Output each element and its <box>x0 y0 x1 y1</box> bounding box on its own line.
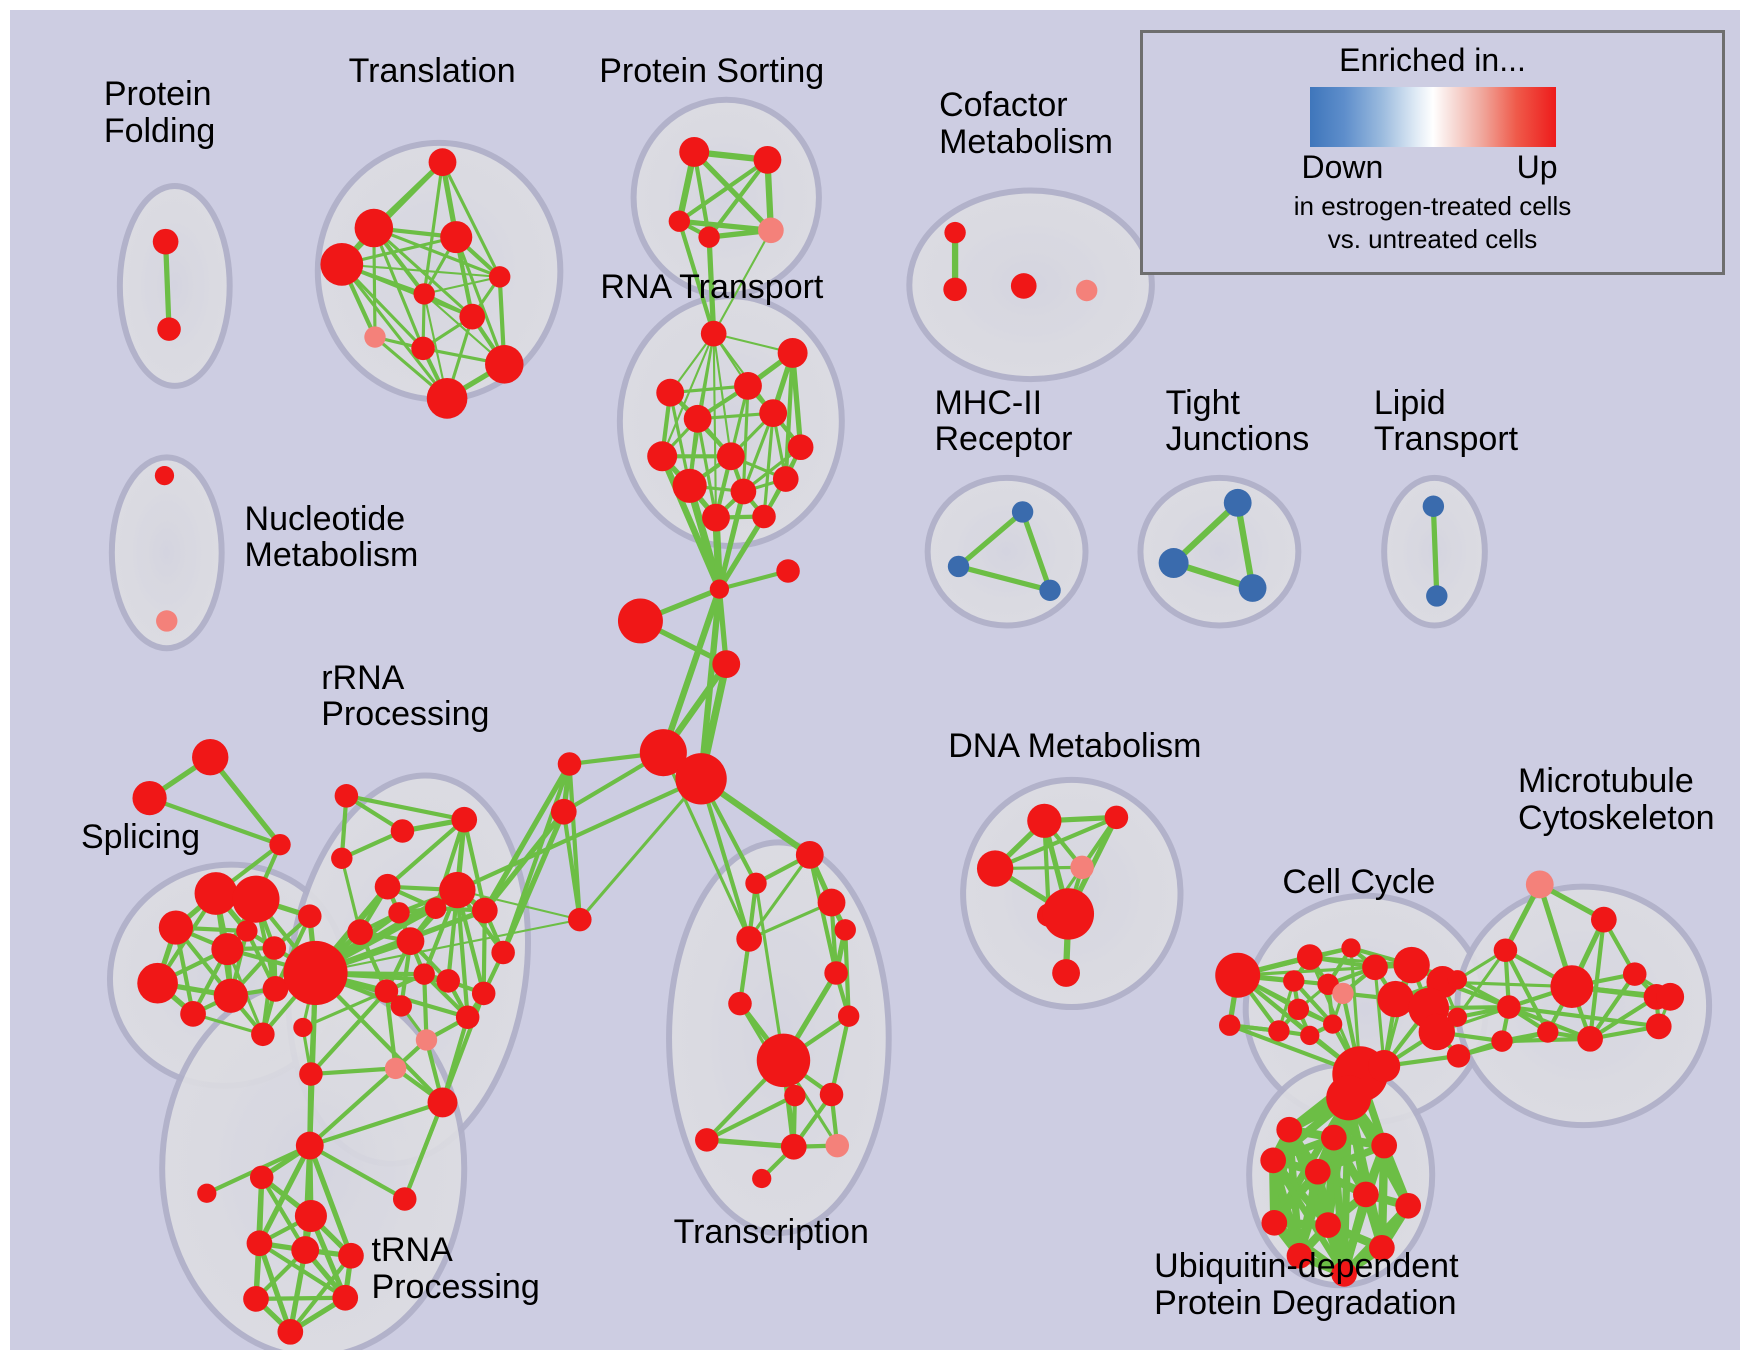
network-node-cc19[interactable] <box>1447 1044 1471 1068</box>
network-node-rr4[interactable] <box>335 784 359 808</box>
network-node-tr5[interactable] <box>489 266 510 287</box>
cluster-label-protein-sorting: Protein Sorting <box>599 53 824 90</box>
network-node-tj2[interactable] <box>1159 548 1189 578</box>
network-node-ub3[interactable] <box>1321 1125 1347 1151</box>
network-node-rr8[interactable] <box>451 807 477 833</box>
legend-caption-line2: vs. untreated cells <box>1143 224 1722 255</box>
network-node-tx15[interactable] <box>745 873 766 894</box>
network-node-ub5[interactable] <box>1260 1148 1286 1174</box>
network-node-rt2[interactable] <box>778 338 808 368</box>
cluster-label-lipid-transport: Lipid Transport <box>1374 385 1518 458</box>
network-node-mc5[interactable] <box>1623 962 1647 986</box>
network-node-tx3[interactable] <box>728 992 752 1016</box>
network-node-ub6[interactable] <box>1305 1159 1331 1185</box>
network-node-tp4[interactable] <box>247 1230 273 1256</box>
network-node-mc7[interactable] <box>1497 995 1521 1019</box>
network-node-cc12[interactable] <box>1288 999 1309 1020</box>
network-node-rt1[interactable] <box>701 321 727 347</box>
network-node-ps1[interactable] <box>679 137 709 167</box>
network-node-tx6[interactable] <box>818 889 846 917</box>
cluster-label-transcription: Transcription <box>674 1214 869 1251</box>
network-node-ub2[interactable] <box>1276 1117 1302 1143</box>
network-node-rr18[interactable] <box>347 919 373 945</box>
network-node-ps5[interactable] <box>758 217 784 243</box>
cluster-label-translation: Translation <box>349 53 516 90</box>
network-node-cc13[interactable] <box>1323 1014 1342 1033</box>
network-node-mc2[interactable] <box>1591 907 1617 933</box>
cluster-label-cofactor-metabolism: Cofactor Metabolism <box>939 87 1113 160</box>
network-node-tx5[interactable] <box>736 926 762 952</box>
network-node-tx9[interactable] <box>838 1005 859 1026</box>
network-node-tr11[interactable] <box>427 378 468 419</box>
network-node-rr21[interactable] <box>331 848 352 869</box>
network-node-cc15[interactable] <box>1268 1020 1289 1041</box>
network-node-rt4[interactable] <box>656 379 684 407</box>
network-node-dm4[interactable] <box>1105 806 1129 830</box>
network-node-rt8[interactable] <box>647 441 677 471</box>
network-node-rr5[interactable] <box>388 902 409 923</box>
network-node-cf2[interactable] <box>943 278 967 302</box>
network-node-sp13[interactable] <box>283 941 347 1005</box>
network-node-tp3[interactable] <box>197 1184 216 1203</box>
cluster-label-tight-junctions: Tight Junctions <box>1166 385 1310 458</box>
network-node-tp2[interactable] <box>295 1200 327 1232</box>
network-node-ps2[interactable] <box>754 146 782 174</box>
network-node-tx2[interactable] <box>824 961 848 985</box>
network-node-pf2[interactable] <box>157 317 181 341</box>
network-node-rr15[interactable] <box>385 1058 406 1079</box>
network-node-cc7[interactable] <box>1283 970 1304 991</box>
network-node-sp8[interactable] <box>137 963 178 1004</box>
network-node-rr3[interactable] <box>472 898 498 924</box>
cluster-label-splicing: Splicing <box>81 819 200 856</box>
network-node-rr22[interactable] <box>472 982 496 1006</box>
network-node-sp0b[interactable] <box>132 781 166 815</box>
network-node-rr23[interactable] <box>393 1187 417 1211</box>
network-node-sp3[interactable] <box>159 910 193 944</box>
network-node-tx10[interactable] <box>784 1085 805 1106</box>
network-node-rr16[interactable] <box>428 1087 458 1117</box>
network-node-cc2[interactable] <box>1297 944 1323 970</box>
network-node-tr3[interactable] <box>440 221 472 253</box>
network-node-ub1[interactable] <box>1326 1075 1371 1120</box>
network-node-pf1[interactable] <box>153 229 179 255</box>
network-node-cc1[interactable] <box>1215 953 1260 998</box>
network-node-tp6[interactable] <box>338 1243 364 1269</box>
network-node-tp1[interactable] <box>250 1166 274 1190</box>
network-node-tx11[interactable] <box>695 1128 719 1152</box>
cluster-label-protein-folding: Protein Folding <box>104 76 216 149</box>
cluster-label-trna-processing: tRNA Processing <box>372 1232 540 1305</box>
network-node-rr20[interactable] <box>296 1132 324 1160</box>
network-node-sp9[interactable] <box>214 979 248 1013</box>
network-node-rt6[interactable] <box>759 399 787 427</box>
network-node-tr4[interactable] <box>320 243 363 286</box>
network-node-ub10[interactable] <box>1315 1212 1341 1238</box>
network-node-cc17[interactable] <box>1448 970 1467 989</box>
network-node-cc5[interactable] <box>1362 954 1388 980</box>
network-node-mc4[interactable] <box>1550 965 1593 1008</box>
network-node-tx13[interactable] <box>781 1134 807 1160</box>
network-node-mc11[interactable] <box>1491 1030 1512 1051</box>
network-node-sp5[interactable] <box>298 904 322 928</box>
network-node-cf3[interactable] <box>1011 273 1037 299</box>
network-node-tx7[interactable] <box>835 919 856 940</box>
network-node-mc9[interactable] <box>1577 1026 1603 1052</box>
network-edge <box>256 1298 345 1299</box>
network-node-cf1[interactable] <box>944 222 965 243</box>
network-node-sp1[interactable] <box>195 872 238 915</box>
network-node-mc1[interactable] <box>1526 870 1554 898</box>
network-node-cc18[interactable] <box>1448 1008 1467 1027</box>
network-node-tp9[interactable] <box>332 1285 358 1311</box>
network-node-rt10[interactable] <box>773 466 799 492</box>
network-node-rt5[interactable] <box>684 405 712 433</box>
network-node-rr17[interactable] <box>391 995 412 1016</box>
network-node-lt1[interactable] <box>1423 496 1444 517</box>
cluster-label-mhc-ii-receptor: MHC-II Receptor <box>934 385 1072 458</box>
network-node-tx12[interactable] <box>752 1169 771 1188</box>
legend-down-label: Down <box>1302 149 1384 186</box>
legend-caption-line1: in estrogen-treated cells <box>1143 191 1722 222</box>
network-node-mc8[interactable] <box>1537 1021 1558 1042</box>
cluster-ellipse-mhc-ii-receptor <box>928 478 1086 626</box>
legend-panel: Enriched in... Down Up in estrogen-treat… <box>1140 30 1725 275</box>
network-node-br3[interactable] <box>618 598 663 643</box>
network-node-nm2[interactable] <box>156 610 177 631</box>
network-node-rr14[interactable] <box>416 1029 437 1050</box>
network-node-lt2[interactable] <box>1426 585 1447 606</box>
network-node-dm8[interactable] <box>1052 959 1080 987</box>
network-node-tx1[interactable] <box>796 841 824 869</box>
network-edge <box>1433 506 1436 596</box>
legend-up-label: Up <box>1517 149 1558 186</box>
network-node-tp5[interactable] <box>291 1236 319 1264</box>
network-node-dm7[interactable] <box>1043 888 1094 939</box>
network-node-dm5[interactable] <box>1027 804 1061 838</box>
network-node-sp0c[interactable] <box>269 834 290 855</box>
network-node-br1[interactable] <box>776 559 800 583</box>
network-node-tp8[interactable] <box>277 1319 303 1345</box>
network-node-rr6[interactable] <box>436 969 460 993</box>
network-node-rr7[interactable] <box>391 819 415 843</box>
network-node-cc9[interactable] <box>1332 983 1353 1004</box>
network-node-rr25[interactable] <box>491 941 515 965</box>
network-node-rt7[interactable] <box>788 434 814 460</box>
network-node-rt9[interactable] <box>717 442 745 470</box>
network-node-tr8[interactable] <box>364 326 385 347</box>
network-edge <box>580 779 701 920</box>
network-node-dm6[interactable] <box>1070 856 1094 880</box>
network-node-rt13[interactable] <box>702 504 730 532</box>
network-node-rr11[interactable] <box>413 963 434 984</box>
network-node-rt3[interactable] <box>734 372 762 400</box>
cluster-label-microtubule-cytoskeleton: Microtubule Cytoskeleton <box>1518 763 1715 836</box>
cluster-ellipse-protein-sorting <box>634 100 819 295</box>
network-node-rt14[interactable] <box>752 505 776 529</box>
network-node-mc12[interactable] <box>1656 983 1684 1011</box>
network-node-tp7[interactable] <box>243 1286 269 1312</box>
network-node-rr1[interactable] <box>375 874 401 900</box>
network-node-sp7[interactable] <box>263 936 287 960</box>
cluster-label-cell-cycle: Cell Cycle <box>1282 864 1435 901</box>
cluster-label-dna-metabolism: DNA Metabolism <box>948 728 1201 765</box>
cluster-label-rrna-processing: rRNA Processing <box>321 660 489 733</box>
network-node-sp12[interactable] <box>251 1023 275 1047</box>
network-node-rr13[interactable] <box>456 1006 480 1030</box>
network-node-rr10[interactable] <box>397 927 425 955</box>
network-node-mh3[interactable] <box>1039 580 1060 601</box>
network-node-br4[interactable] <box>712 650 740 678</box>
network-node-cc20[interactable] <box>1219 1015 1240 1036</box>
network-node-ub8[interactable] <box>1395 1193 1421 1219</box>
network-node-rr19[interactable] <box>299 1062 323 1086</box>
network-node-tx14[interactable] <box>825 1134 849 1158</box>
network-node-rr24[interactable] <box>293 1018 312 1037</box>
network-node-mh2[interactable] <box>948 556 969 577</box>
network-node-br9[interactable] <box>568 908 592 932</box>
cluster-ellipse-rna-transport <box>620 296 842 546</box>
network-node-mh1[interactable] <box>1012 501 1033 522</box>
figure-root: Protein FoldingTranslationProtein Sortin… <box>0 0 1750 1360</box>
network-node-ps3[interactable] <box>669 211 690 232</box>
network-edge <box>166 242 169 329</box>
network-node-rt12[interactable] <box>731 479 757 505</box>
network-node-mc10[interactable] <box>1646 1014 1672 1040</box>
cluster-label-nucleotide-metabolism: Nucleotide Metabolism <box>245 501 419 574</box>
network-node-tj3[interactable] <box>1239 574 1267 602</box>
network-node-ps4[interactable] <box>698 226 719 247</box>
network-node-ub7[interactable] <box>1353 1182 1379 1208</box>
network-node-cc22[interactable] <box>1368 1050 1400 1082</box>
network-node-cf4[interactable] <box>1076 280 1097 301</box>
network-node-sp6[interactable] <box>211 933 243 965</box>
network-node-cc10[interactable] <box>1377 981 1413 1017</box>
network-node-tr10[interactable] <box>485 345 524 384</box>
network-node-rt11[interactable] <box>673 469 707 503</box>
network-node-nm1[interactable] <box>155 466 174 485</box>
network-node-tx8[interactable] <box>820 1083 844 1107</box>
network-node-tr7[interactable] <box>459 304 485 330</box>
network-canvas: Protein FoldingTranslationProtein Sortin… <box>10 10 1740 1350</box>
network-node-br8[interactable] <box>551 799 577 825</box>
legend-title: Enriched in... <box>1143 42 1722 79</box>
network-node-rr9[interactable] <box>439 872 475 908</box>
network-node-tr9[interactable] <box>411 337 435 361</box>
legend-endpoint-labels: Down Up <box>1310 149 1556 189</box>
cluster-label-rna-transport: RNA Transport <box>600 269 823 306</box>
network-node-tj1[interactable] <box>1224 489 1252 517</box>
cluster-ellipse-protein-folding <box>120 186 230 386</box>
network-node-br6[interactable] <box>675 753 726 804</box>
cluster-label-ubiquitin-protein-degradation: Ubiquitin-dependent Protein Degradation <box>1154 1248 1458 1321</box>
network-node-dm3[interactable] <box>977 850 1013 886</box>
network-node-mc3[interactable] <box>1494 939 1518 963</box>
network-node-sp0a[interactable] <box>192 739 228 775</box>
legend-color-gradient-bar <box>1310 87 1556 147</box>
network-node-tx4[interactable] <box>757 1034 811 1088</box>
network-node-br2[interactable] <box>710 580 729 599</box>
network-node-tr6[interactable] <box>413 283 434 304</box>
network-node-cc16[interactable] <box>1300 1026 1319 1045</box>
network-node-cc3[interactable] <box>1341 938 1360 957</box>
network-node-br7[interactable] <box>558 752 582 776</box>
network-node-tr2[interactable] <box>355 209 394 248</box>
network-node-ub9[interactable] <box>1261 1210 1287 1236</box>
network-node-cc4[interactable] <box>1393 947 1429 983</box>
network-node-ub4[interactable] <box>1371 1133 1397 1159</box>
network-node-tr1[interactable] <box>429 148 457 176</box>
network-node-sp11[interactable] <box>180 1001 206 1027</box>
network-node-sp2[interactable] <box>232 876 279 923</box>
